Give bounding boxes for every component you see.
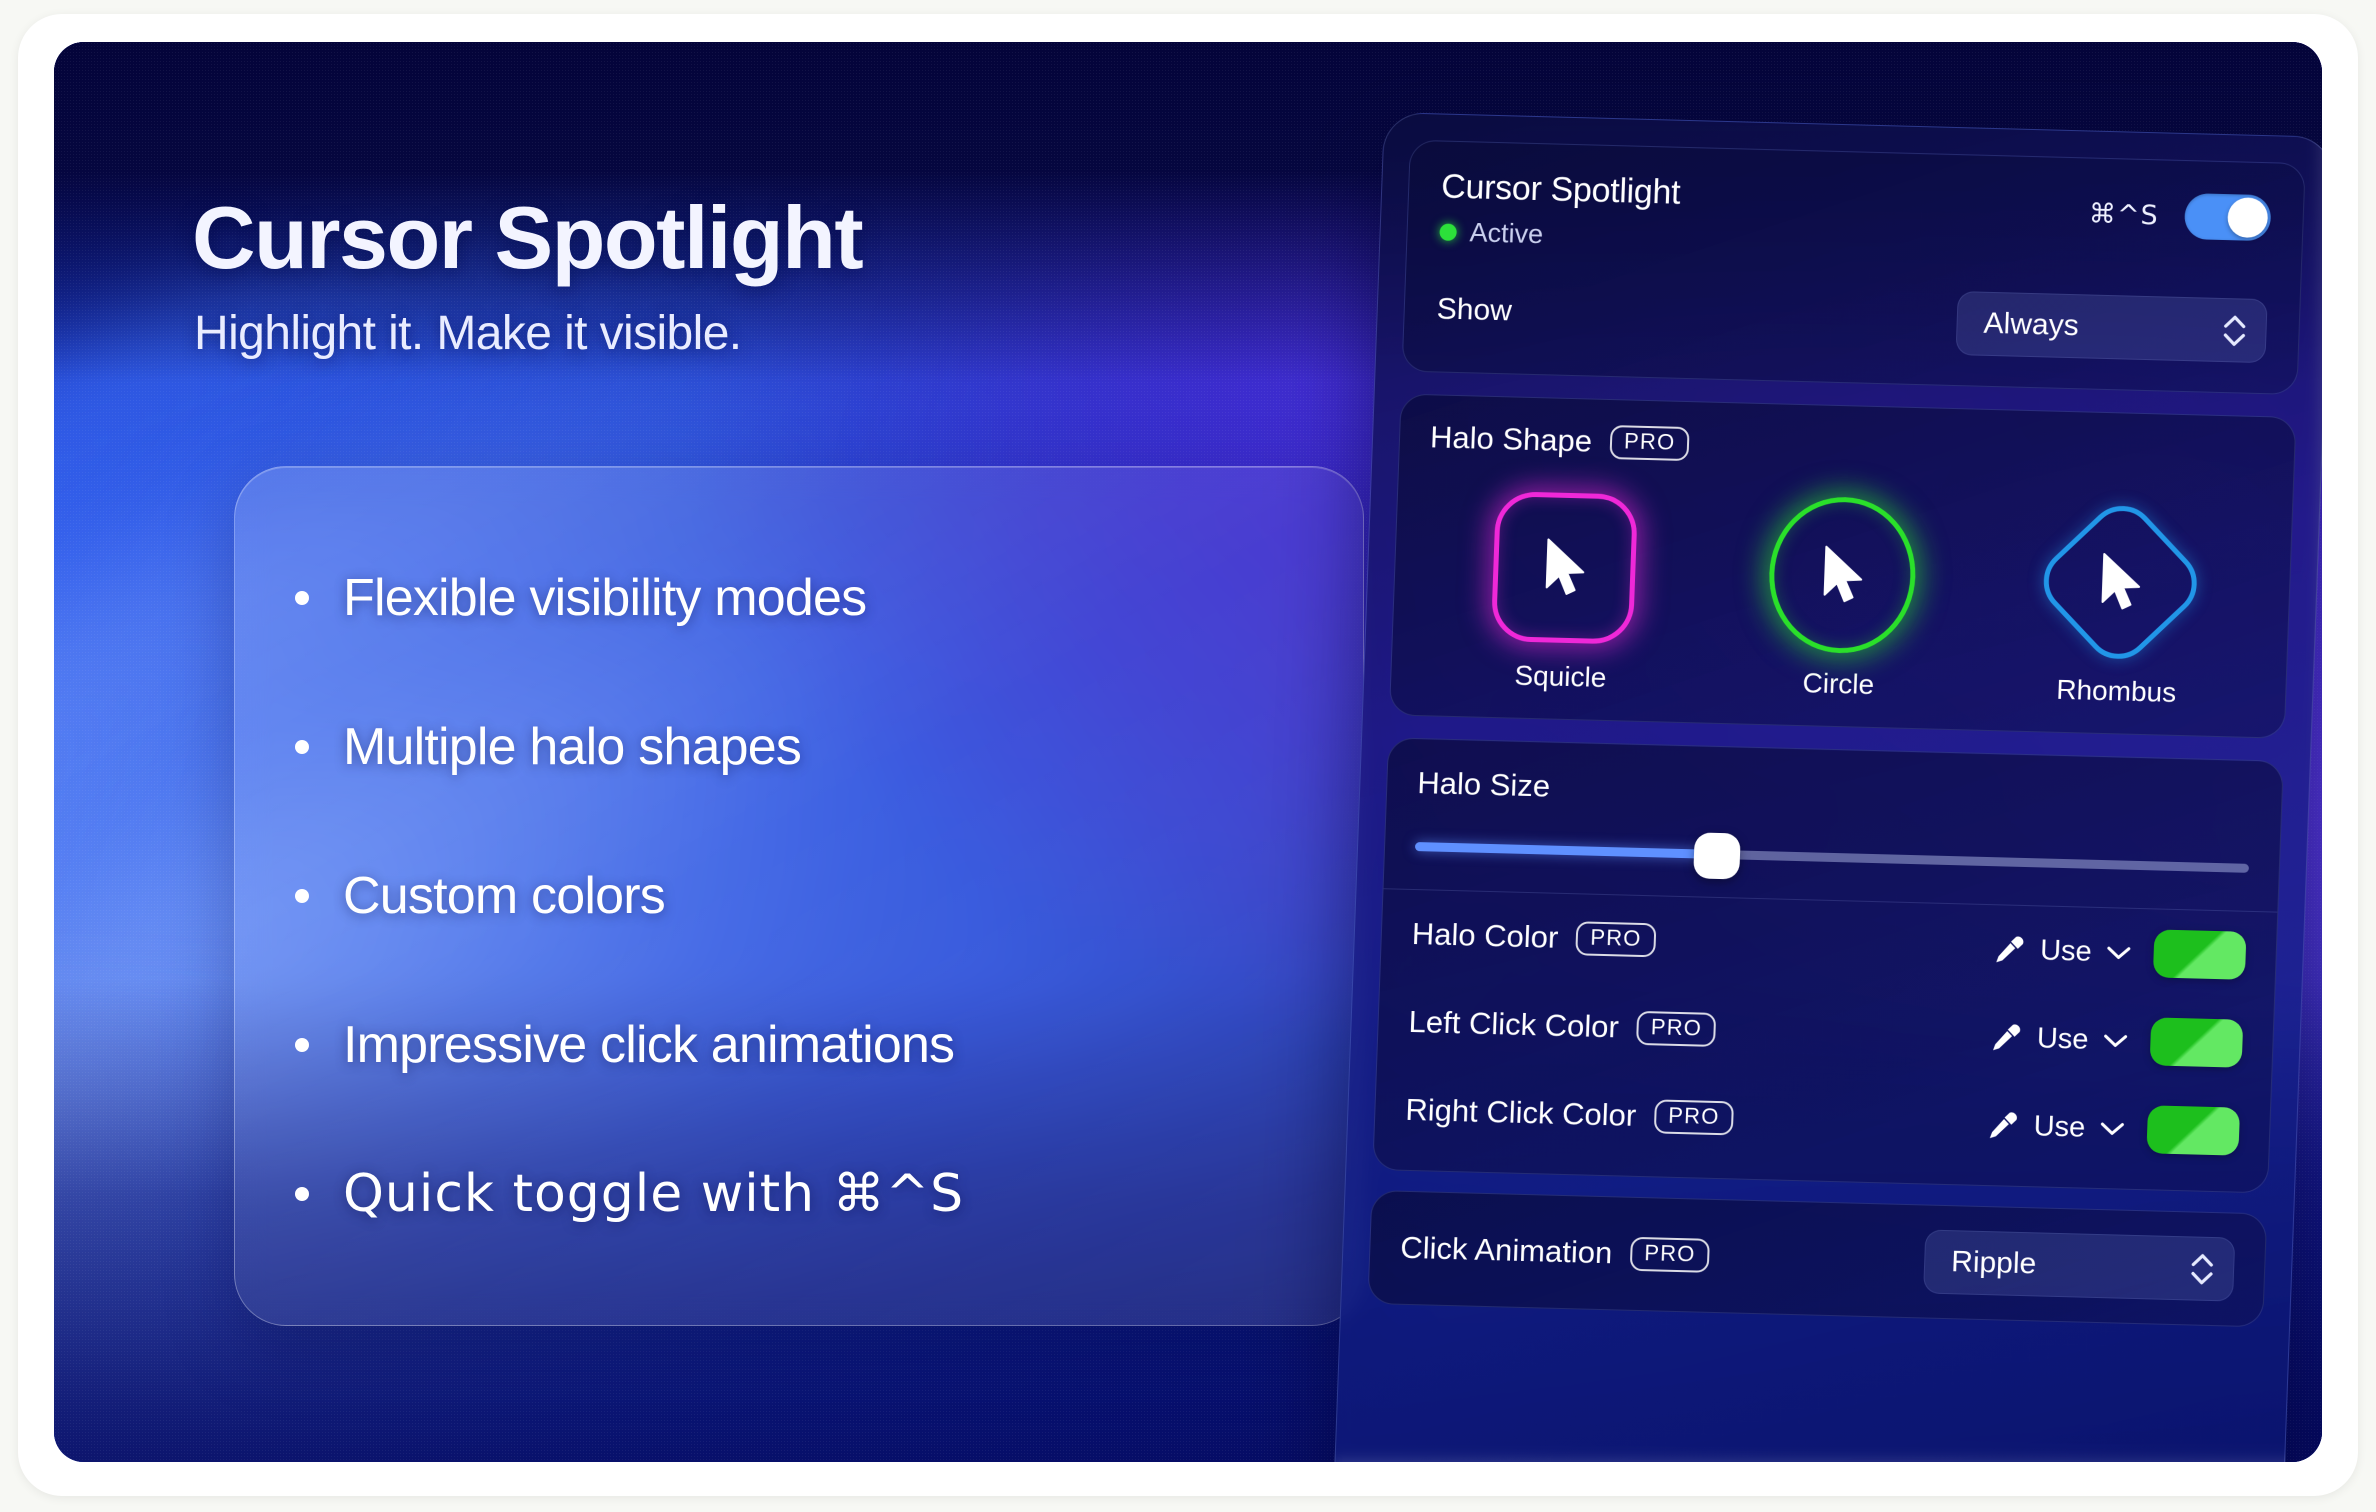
pro-badge: PRO bbox=[1630, 1237, 1711, 1273]
show-row: Show Always bbox=[1436, 277, 2268, 363]
halo-shape-option-circle[interactable]: Circle bbox=[1738, 498, 1945, 703]
halo-color-swatch[interactable] bbox=[2153, 929, 2247, 979]
circle-preview bbox=[1765, 498, 1920, 652]
eyedropper-icon bbox=[1988, 1020, 2023, 1055]
app-identity: Cursor Spotlight Active bbox=[1439, 168, 1681, 254]
halo-shape-option-squicle[interactable]: Squicle bbox=[1460, 490, 1667, 695]
click-animation-value: Ripple bbox=[1951, 1245, 2037, 1281]
pro-badge: PRO bbox=[1654, 1099, 1735, 1135]
right-click-color-label: Right Click Color bbox=[1405, 1092, 1637, 1134]
use-label: Use bbox=[2033, 1110, 2086, 1144]
bullet-icon bbox=[295, 1187, 309, 1201]
left-click-color-label: Left Click Color bbox=[1408, 1004, 1619, 1045]
click-animation-row: Click Animation PRO Ripple bbox=[1399, 1216, 2235, 1302]
pro-badge: PRO bbox=[1609, 425, 1690, 461]
frame-inner-border: Cursor Spotlight Highlight it. Make it v… bbox=[18, 14, 2358, 1496]
use-label: Use bbox=[2040, 934, 2093, 968]
app-title: Cursor Spotlight bbox=[1441, 168, 1681, 213]
chevron-updown-icon[interactable] bbox=[2223, 315, 2246, 347]
screen-canvas: Cursor Spotlight Highlight it. Make it v… bbox=[54, 42, 2322, 1462]
halo-size-slider[interactable] bbox=[1415, 831, 2250, 883]
halo-shape-header: Halo Shape PRO bbox=[1429, 419, 2264, 477]
chevron-updown-icon[interactable] bbox=[2191, 1253, 2214, 1285]
cursor-arrow-icon bbox=[1540, 537, 1588, 598]
slider-fill bbox=[1415, 842, 1715, 859]
show-selected-value: Always bbox=[1983, 307, 2079, 343]
cursor-arrow-icon bbox=[1818, 545, 1866, 606]
hero-block: Cursor Spotlight Highlight it. Make it v… bbox=[192, 192, 1192, 361]
halo-size-label: Halo Size bbox=[1417, 765, 1551, 803]
status-dot-icon bbox=[1439, 223, 1457, 240]
halo-shape-options: Squicle Circle bbox=[1421, 489, 2262, 711]
settings-panel-wrapper: Cursor Spotlight Active ⌘^S bbox=[1332, 112, 2322, 1462]
click-animation-label: Click Animation bbox=[1400, 1230, 1613, 1272]
bullet-icon bbox=[295, 591, 309, 605]
status-badge: Active bbox=[1439, 217, 1679, 254]
halo-size-and-colors-card: Halo Size Halo Color PRO bbox=[1372, 737, 2284, 1193]
chevron-down-icon[interactable] bbox=[2099, 1121, 2126, 1137]
show-label: Show bbox=[1436, 292, 1512, 328]
header-top-row: Cursor Spotlight Active ⌘^S bbox=[1439, 168, 2272, 270]
page-subtitle: Highlight it. Make it visible. bbox=[194, 306, 1192, 361]
shape-option-label: Squicle bbox=[1514, 660, 1607, 694]
shape-option-label: Rhombus bbox=[2056, 674, 2177, 709]
left-click-color-swatch[interactable] bbox=[2150, 1017, 2244, 1067]
list-item: Custom colors bbox=[295, 866, 1303, 926]
status-label: Active bbox=[1469, 217, 1544, 250]
halo-shape-option-rhombus[interactable]: Rhombus bbox=[2016, 505, 2223, 710]
keyboard-shortcut-label: ⌘^S bbox=[2088, 198, 2159, 231]
eyedropper-icon bbox=[1992, 932, 2027, 967]
squicle-preview bbox=[1487, 491, 1642, 645]
enable-toggle[interactable] bbox=[2184, 193, 2272, 241]
chevron-down-icon[interactable] bbox=[2102, 1033, 2129, 1049]
halo-shape-card: Halo Shape PRO bbox=[1389, 394, 2297, 739]
pro-badge: PRO bbox=[1636, 1011, 1717, 1047]
halo-color-label: Halo Color bbox=[1411, 916, 1559, 956]
toggle-knob bbox=[2227, 197, 2268, 238]
cursor-arrow-icon bbox=[2096, 552, 2144, 613]
click-animation-select[interactable]: Ripple bbox=[1923, 1229, 2235, 1301]
chevron-down-icon[interactable] bbox=[2105, 945, 2132, 961]
list-item: Flexible visibility modes bbox=[295, 568, 1303, 628]
feature-label: Custom colors bbox=[343, 866, 665, 926]
bullet-icon bbox=[295, 1038, 309, 1052]
halo-shape-label: Halo Shape bbox=[1429, 419, 1592, 459]
slider-knob[interactable] bbox=[1694, 832, 1742, 879]
pro-badge: PRO bbox=[1576, 921, 1657, 957]
left-click-color-use-button[interactable]: Use bbox=[1988, 1020, 2129, 1058]
list-item: Impressive click animations bbox=[295, 1015, 1303, 1075]
feature-list-card: Flexible visibility modes Multiple halo … bbox=[234, 466, 1364, 1326]
use-label: Use bbox=[2036, 1022, 2089, 1056]
right-click-color-use-button[interactable]: Use bbox=[1985, 1108, 2126, 1146]
click-animation-card: Click Animation PRO Ripple bbox=[1367, 1190, 2267, 1327]
halo-color-use-button[interactable]: Use bbox=[1992, 932, 2133, 970]
eyedropper-icon bbox=[1985, 1108, 2020, 1143]
feature-label: Impressive click animations bbox=[343, 1015, 954, 1075]
header-controls: ⌘^S bbox=[2088, 185, 2272, 242]
show-select[interactable]: Always bbox=[1955, 291, 2267, 363]
settings-panel: Cursor Spotlight Active ⌘^S bbox=[1332, 112, 2322, 1462]
feature-label: Quick toggle with ⌘^S bbox=[343, 1164, 964, 1224]
right-click-color-swatch[interactable] bbox=[2146, 1105, 2240, 1155]
list-item: Multiple halo shapes bbox=[295, 717, 1303, 777]
bullet-icon bbox=[295, 889, 309, 903]
page-frame: Cursor Spotlight Highlight it. Make it v… bbox=[0, 0, 2376, 1512]
feature-label: Flexible visibility modes bbox=[343, 568, 866, 628]
shape-option-label: Circle bbox=[1802, 667, 1875, 701]
rhombus-preview bbox=[2043, 505, 2198, 659]
header-card: Cursor Spotlight Active ⌘^S bbox=[1402, 140, 2306, 395]
bullet-icon bbox=[295, 740, 309, 754]
list-item: Quick toggle with ⌘^S bbox=[295, 1164, 1303, 1224]
page-title: Cursor Spotlight bbox=[192, 192, 1192, 284]
feature-label: Multiple halo shapes bbox=[343, 717, 801, 777]
